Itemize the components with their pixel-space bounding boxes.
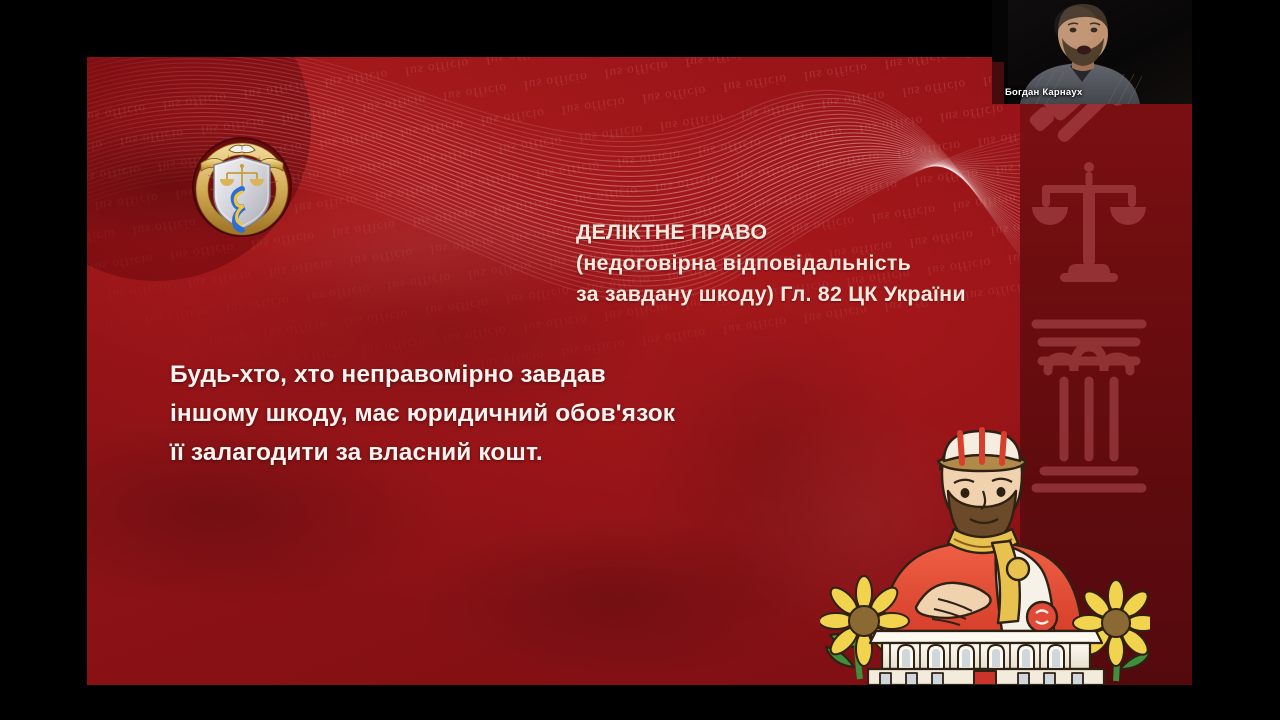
slide-body-block: Будь-хто, хто неправомірно завдав іншому… [170, 355, 810, 472]
slide-body-line-1: Будь-хто, хто неправомірно завдав [170, 355, 810, 394]
side-accent-band [1020, 57, 1192, 685]
sunflower-left [820, 576, 909, 679]
slide-body-line-2: іншому шкоду, має юридичний обов'язок [170, 394, 810, 433]
slide-body-line-3: її залагодити за власний кошт. [170, 433, 810, 472]
slide-title-line-3: за завдану шкоду) Гл. 82 ЦК України [576, 279, 1006, 310]
slide-title-block: ДЕЛІКТНЕ ПРАВО (недоговірна відповідальн… [576, 217, 1006, 310]
slide-title-line-2: (недоговірна відповідальність [576, 248, 1006, 279]
column-icon [1028, 315, 1150, 495]
webcam-participant-name: Богдан Карнаух [1005, 87, 1082, 98]
scales-icon [1030, 155, 1148, 295]
presentation-slide: Ius officio Ius officio Ius officio Ius … [87, 57, 1192, 685]
video-player-stage: Ius officio Ius officio Ius officio Ius … [0, 0, 1280, 720]
slide-title-line-1: ДЕЛІКТНЕ ПРАВО [576, 217, 1006, 248]
webcam-pip-overlay[interactable]: Богдан Карнаух [992, 0, 1192, 104]
university-crest-emblem [188, 131, 296, 243]
